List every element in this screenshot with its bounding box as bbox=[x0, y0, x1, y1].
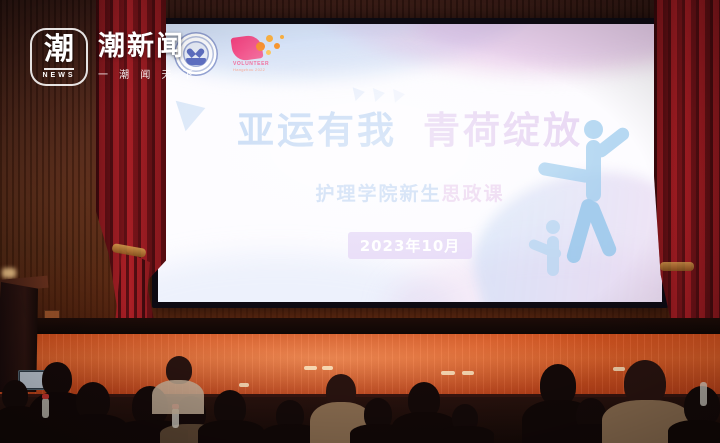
curtain-tieback-right bbox=[660, 262, 694, 271]
chevron-icon-3 bbox=[393, 87, 406, 102]
chevron-icon-2 bbox=[373, 86, 386, 102]
audience-shoulders bbox=[668, 420, 720, 443]
slide-date-badge: 2023年10月 bbox=[348, 232, 473, 259]
volunteer-sublabel: Hangzhou 2022 bbox=[233, 67, 265, 72]
chevron-icon-1 bbox=[353, 85, 367, 101]
slide-title-first: 亚运有我 bbox=[237, 109, 397, 152]
slide-subtitle: 护理学院新生思政课 bbox=[158, 179, 662, 206]
watermark-badge-glyph: 潮 bbox=[44, 35, 74, 65]
watermark-text-block: 潮新闻 一 潮 闻 天 下 bbox=[98, 33, 197, 80]
audience-shoulders bbox=[152, 380, 204, 414]
watermark: 潮 NEWS 潮新闻 一 潮 闻 天 下 bbox=[30, 28, 197, 86]
slide-subtitle-first: 护理学院新生 bbox=[315, 183, 441, 205]
watermark-divider bbox=[44, 68, 74, 70]
asian-games-volunteer-logo: VOLUNTEER Hangzhou 2022 bbox=[232, 32, 290, 76]
water-bottle bbox=[700, 382, 707, 406]
projection-screen: VOLUNTEER Hangzhou 2022 亚运有我青荷绽放 护理学院新生思… bbox=[158, 24, 662, 302]
watermark-brand-name: 潮新闻 bbox=[98, 33, 197, 61]
projection-screen-bezel: VOLUNTEER Hangzhou 2022 亚运有我青荷绽放 护理学院新生思… bbox=[152, 18, 668, 308]
audience-area bbox=[0, 352, 720, 443]
slide-subtitle-second: 思政课 bbox=[442, 183, 505, 205]
slide-title: 亚运有我青荷绽放 bbox=[158, 112, 662, 149]
audience-shoulders bbox=[198, 420, 264, 443]
audience-head bbox=[42, 362, 72, 396]
water-bottle-cap bbox=[42, 394, 49, 399]
watermark-badge-sub: NEWS bbox=[43, 72, 76, 79]
podium-lamp bbox=[2, 268, 16, 278]
watermark-slogan: 一 潮 闻 天 下 bbox=[98, 66, 197, 81]
slide-date-wrap: 2023年10月 bbox=[158, 232, 662, 259]
auditorium-photo: VOLUNTEER Hangzhou 2022 亚运有我青荷绽放 护理学院新生思… bbox=[0, 0, 720, 443]
watermark-badge: 潮 NEWS bbox=[30, 28, 88, 86]
volunteer-dots-cluster bbox=[254, 32, 288, 62]
water-bottle bbox=[42, 398, 49, 418]
slide-title-second: 青荷绽放 bbox=[423, 109, 583, 152]
audience-shoulders bbox=[438, 426, 494, 443]
